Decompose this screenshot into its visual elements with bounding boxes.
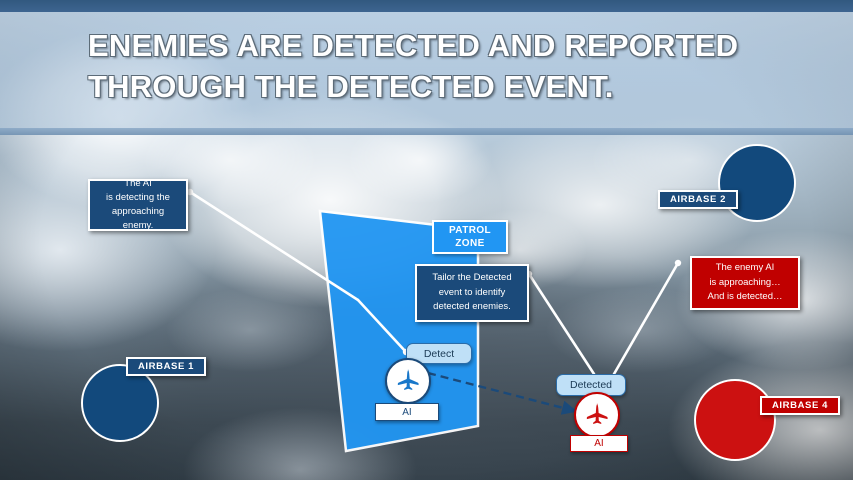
blue-unit-label: AI: [375, 403, 439, 421]
airbase-1-label: AIRBASE 1: [126, 357, 206, 376]
patrol-zone-label-line2: ZONE: [449, 237, 491, 251]
red-unit-label: AI: [570, 435, 628, 452]
callout-ai-detecting-line2: is detecting the: [96, 191, 180, 205]
callout-enemy-ai-line2: is approaching…: [708, 276, 783, 291]
patrol-zone-label: PATROL ZONE: [432, 220, 508, 254]
airbase-1-label-text: AIRBASE 1: [138, 361, 194, 372]
detected-event-label: Detected: [570, 379, 612, 391]
callout-ai-detecting-line1: The AI: [96, 177, 180, 191]
callout-tailor-event-line2: event to identify: [432, 286, 511, 301]
callout-tailor-event-line3: detected enemies.: [432, 300, 511, 315]
callout-enemy-ai-line1: The enemy AI: [708, 261, 783, 276]
airbase-2-label-text: AIRBASE 2: [670, 194, 726, 205]
leader-line-enemy-callout: [614, 263, 678, 374]
patrol-zone-label-line1: PATROL: [449, 224, 491, 238]
callout-ai-detecting-line3: approaching enemy.: [96, 205, 180, 234]
blue-fighter-jet-icon: [385, 358, 431, 404]
airbase-2-label: AIRBASE 2: [658, 190, 738, 209]
airbase-4-circle: [695, 380, 775, 460]
callout-tailor-event-line1: Tailor the Detected: [432, 271, 511, 286]
airbase-4-label: AIRBASE 4: [760, 396, 840, 415]
callout-enemy-ai: The enemy AI is approaching… And is dete…: [690, 256, 800, 310]
slide-canvas: ENEMIES ARE DETECTED AND REPORTED THROUG…: [0, 0, 853, 480]
callout-tailor-event: Tailor the Detected event to identify de…: [415, 264, 529, 322]
callout-enemy-ai-line3: And is detected…: [708, 290, 783, 305]
callout-ai-detecting: The AI is detecting the approaching enem…: [88, 179, 188, 231]
detect-event-label: Detect: [424, 348, 454, 360]
red-unit-label-text: AI: [594, 438, 603, 449]
airbase-1-circle: [82, 365, 158, 441]
red-fighter-jet-icon: [574, 392, 620, 438]
leader-line-tailor-event: [529, 274, 594, 374]
blue-unit-label-text: AI: [402, 407, 411, 418]
airbase-2-circle: [719, 145, 795, 221]
airbase-4-label-text: AIRBASE 4: [772, 400, 828, 411]
